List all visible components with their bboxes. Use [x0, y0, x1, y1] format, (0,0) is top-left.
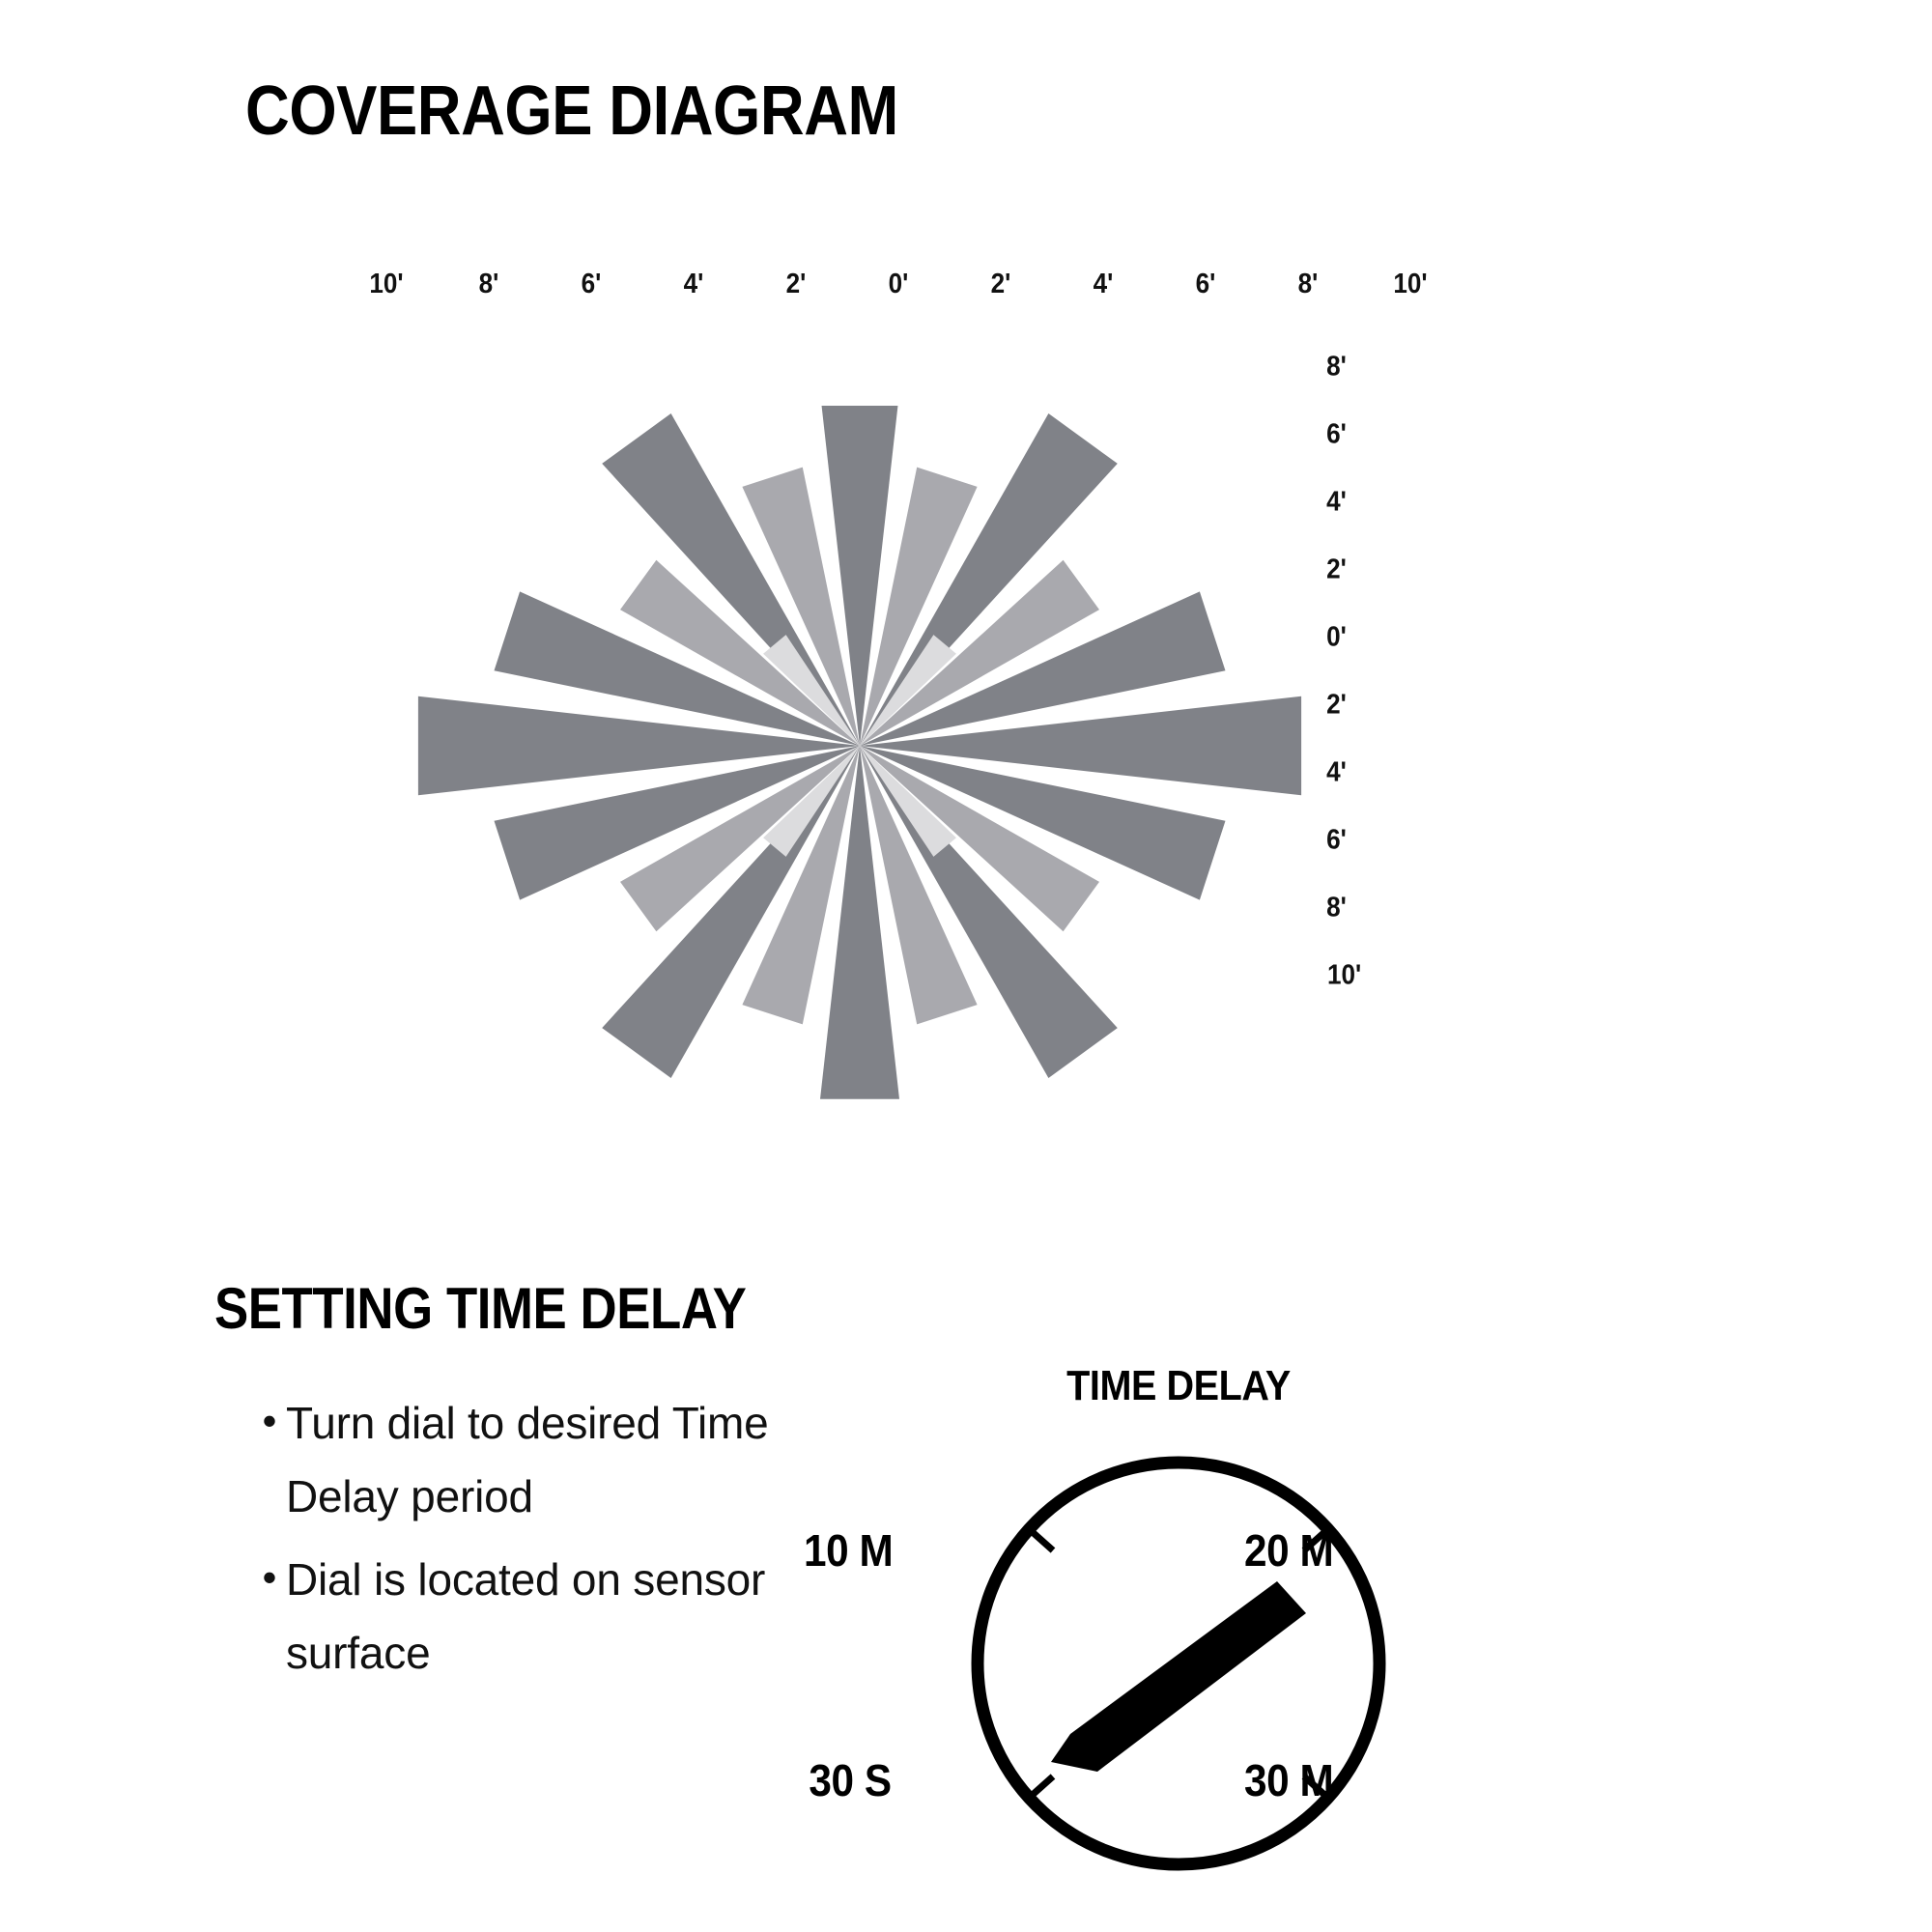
h-axis-tick-label: 8'	[479, 269, 499, 300]
list-item: • Dial is located on sensor surface	[253, 1543, 852, 1690]
dial-label-top-left: 10 M	[804, 1524, 893, 1577]
coverage-beam	[860, 696, 1301, 796]
bullet-icon: •	[253, 1386, 286, 1456]
h-axis-tick-label: 4'	[684, 269, 704, 300]
time-delay-dial-graphic[interactable]	[908, 1422, 1681, 1905]
bullet-icon: •	[253, 1543, 286, 1612]
dial-label-bottom-left: 30 S	[809, 1754, 891, 1806]
h-axis-tick-label: 2'	[991, 269, 1011, 300]
h-axis-tick-label: 6'	[582, 269, 602, 300]
coverage-beam-pattern	[367, 406, 1352, 1101]
time-delay-dial-area: TIME DELAY 10 M 20 M 30 S 30 M	[908, 1362, 1681, 1903]
v-axis-tick-label: 8'	[1326, 352, 1347, 384]
h-axis-tick-label: 0'	[889, 269, 909, 300]
h-axis-tick-label: 4'	[1094, 269, 1114, 300]
h-axis-tick-label: 10'	[369, 269, 403, 300]
h-axis-tick-label: 10'	[1393, 269, 1427, 300]
setting-time-delay-section: SETTING TIME DELAY • Turn dial to desire…	[0, 1236, 1932, 1932]
list-item-text: Dial is located on sensor surface	[286, 1543, 852, 1690]
list-item-text: Turn dial to desired Time Delay period	[286, 1386, 852, 1533]
list-item: • Turn dial to desired Time Delay period	[253, 1386, 852, 1533]
coverage-diagram-section: COVERAGE DIAGRAM 10'8'6'4'2'0'2'4'6'8'10…	[0, 0, 1932, 1236]
time-delay-dial-heading: TIME DELAY	[935, 1362, 1422, 1410]
coverage-diagram-page: COVERAGE DIAGRAM 10'8'6'4'2'0'2'4'6'8'10…	[0, 0, 1932, 1932]
h-axis-tick-label: 8'	[1298, 269, 1319, 300]
coverage-beam	[820, 406, 899, 746]
coverage-beam	[418, 696, 860, 796]
setting-time-delay-title: SETTING TIME DELAY	[214, 1275, 746, 1342]
coverage-diagram-title: COVERAGE DIAGRAM	[245, 71, 898, 151]
coverage-beam	[820, 746, 899, 1099]
horizontal-scale-axis: 10'8'6'4'2'0'2'4'6'8'10'	[386, 269, 1410, 307]
dial-label-top-right: 20 M	[1244, 1524, 1333, 1577]
dial-label-bottom-right: 30 M	[1244, 1754, 1333, 1806]
h-axis-tick-label: 6'	[1196, 269, 1216, 300]
instruction-list: • Turn dial to desired Time Delay period…	[253, 1386, 852, 1699]
h-axis-tick-label: 2'	[786, 269, 807, 300]
